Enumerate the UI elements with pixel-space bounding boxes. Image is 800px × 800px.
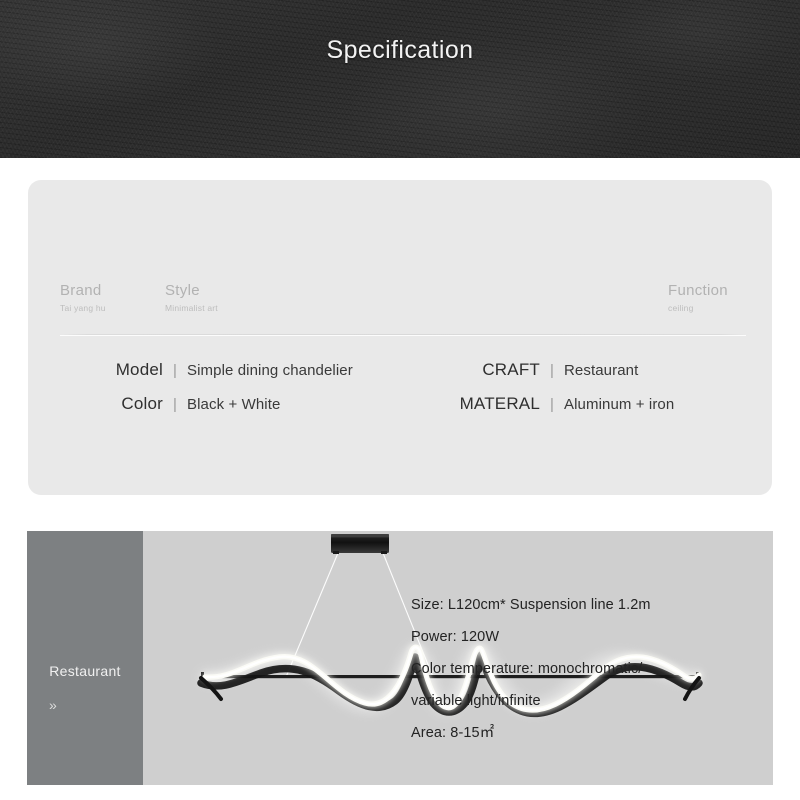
specification-page: Specification Brand Tai yang hu Style Mi… bbox=[0, 0, 800, 800]
spec-row-model-separator: | bbox=[163, 362, 187, 379]
header-banner: Specification bbox=[0, 0, 800, 158]
product-spec-color-temperature: Color temperature: monochromatic/ bbox=[411, 653, 711, 685]
product-spec-size: Size: L120cm* Suspension line 1.2m bbox=[411, 589, 711, 621]
spec-columns-row: Brand Tai yang hu Style Minimalist art F… bbox=[28, 180, 772, 335]
spec-row-color: Color | Black + White bbox=[28, 394, 388, 428]
product-spec-power: Power: 120W bbox=[411, 621, 711, 653]
spec-row-color-value: Black + White bbox=[187, 396, 280, 413]
spec-row-model: Model | Simple dining chandelier bbox=[28, 360, 388, 394]
spec-group-left: Model | Simple dining chandelier Color |… bbox=[28, 360, 388, 428]
spec-column-function-value: ceiling bbox=[668, 303, 728, 314]
spec-row-craft-value: Restaurant bbox=[564, 362, 638, 379]
product-spec-area: Area: 8-15㎡ bbox=[411, 717, 711, 749]
spec-row-material-key: MATERAL bbox=[388, 394, 540, 414]
product-spec-color-temperature-cont: variable light/infinite bbox=[411, 685, 711, 717]
spec-column-style: Style Minimalist art bbox=[165, 282, 218, 314]
product-showcase: Restaurant » bbox=[27, 531, 773, 785]
spec-row-model-value: Simple dining chandelier bbox=[187, 362, 353, 379]
spec-divider bbox=[60, 334, 746, 335]
spec-group-right: CRAFT | Restaurant MATERAL | Aluminum + … bbox=[388, 360, 772, 428]
product-spec-list: Size: L120cm* Suspension line 1.2m Power… bbox=[411, 589, 711, 749]
spec-column-style-label: Style bbox=[165, 282, 218, 300]
spec-column-function-label: Function bbox=[668, 282, 728, 300]
showcase-scene-tag: Restaurant » bbox=[27, 531, 143, 785]
spec-row-color-key: Color bbox=[28, 394, 163, 414]
spec-row-material: MATERAL | Aluminum + iron bbox=[388, 394, 772, 428]
showcase-scene-tag-label: Restaurant bbox=[27, 663, 143, 679]
double-chevron-right-icon: » bbox=[49, 697, 58, 713]
spec-column-brand: Brand Tai yang hu bbox=[60, 282, 106, 314]
spec-column-brand-value: Tai yang hu bbox=[60, 303, 106, 314]
spec-row-material-separator: | bbox=[540, 396, 564, 413]
page-title: Specification bbox=[0, 36, 800, 65]
specification-card: Brand Tai yang hu Style Minimalist art F… bbox=[28, 180, 772, 495]
spec-row-craft-separator: | bbox=[540, 362, 564, 379]
spec-column-function: Function ceiling bbox=[668, 282, 728, 314]
spec-row-color-separator: | bbox=[163, 396, 187, 413]
spec-row-material-value: Aluminum + iron bbox=[564, 396, 674, 413]
spec-row-craft: CRAFT | Restaurant bbox=[388, 360, 772, 394]
spec-row-model-key: Model bbox=[28, 360, 163, 380]
spec-column-brand-label: Brand bbox=[60, 282, 106, 300]
spec-column-style-value: Minimalist art bbox=[165, 303, 218, 314]
spec-row-craft-key: CRAFT bbox=[388, 360, 540, 380]
